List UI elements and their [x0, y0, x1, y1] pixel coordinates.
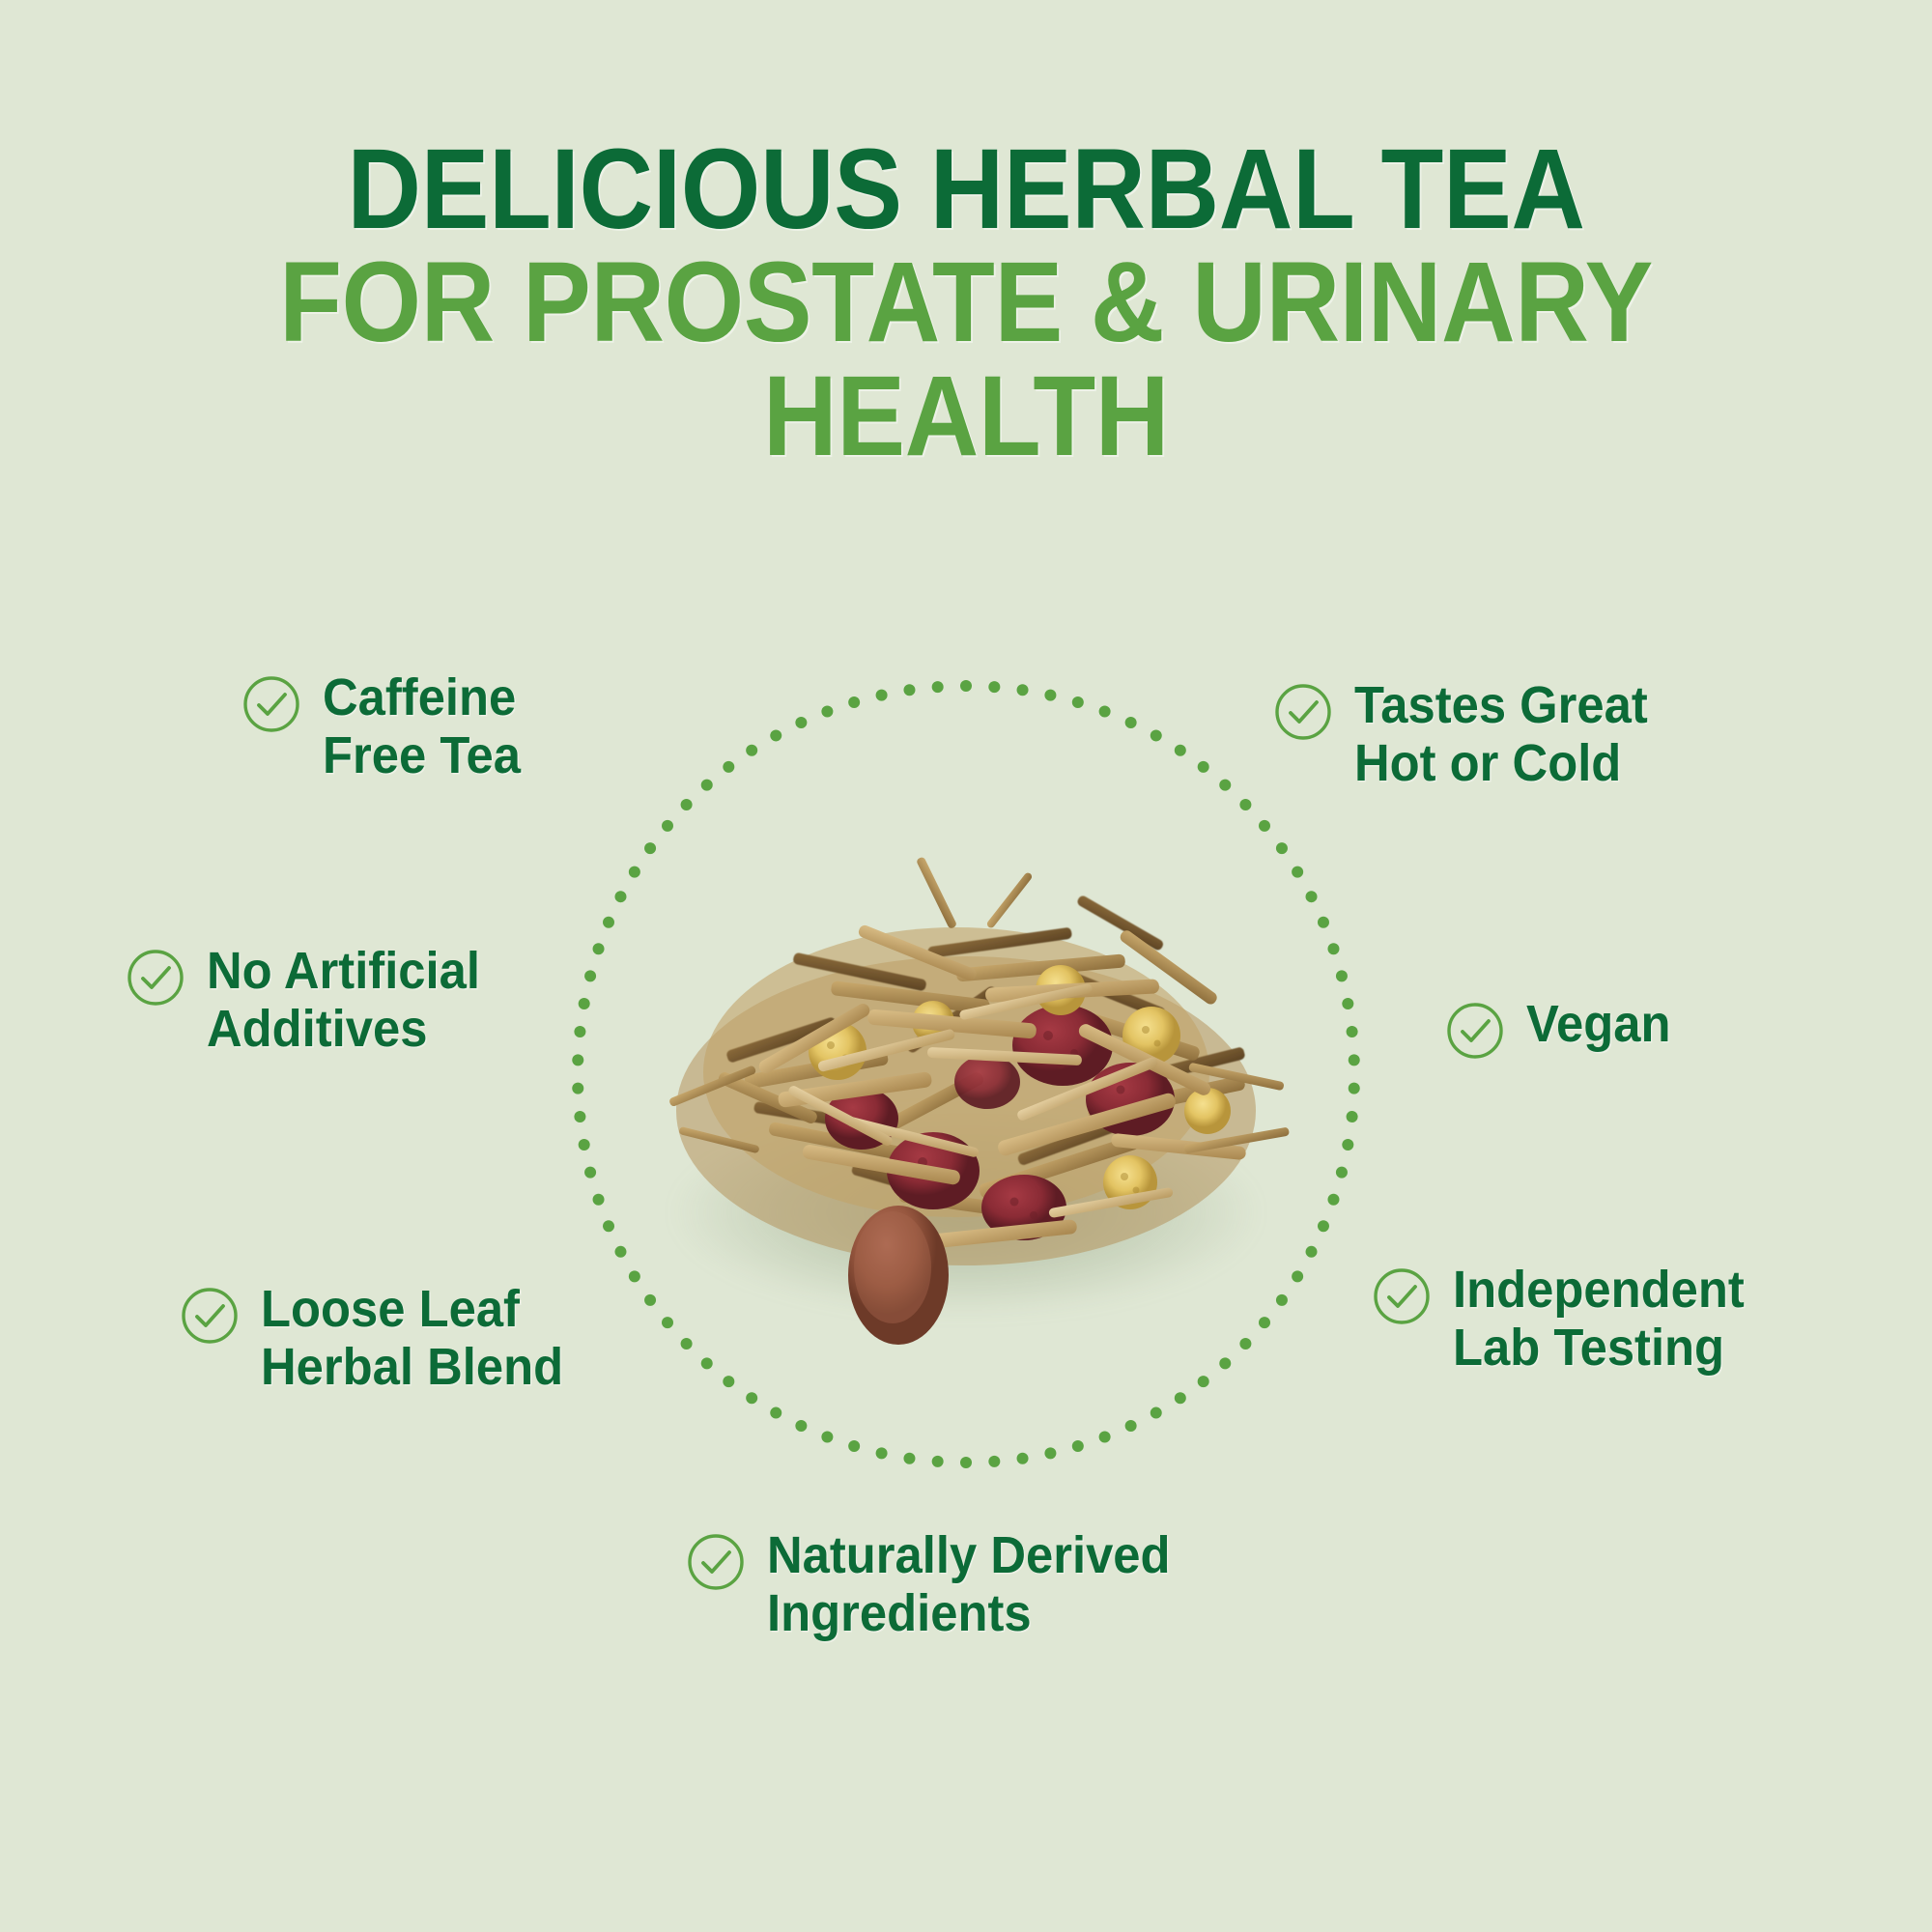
feature-label: Vegan [1526, 995, 1671, 1053]
infographic-canvas: DELICIOUS HERBAL TEA FOR PROSTATE & URIN… [0, 0, 1932, 1932]
check-circle-icon [1273, 682, 1333, 742]
check-circle-icon [126, 948, 185, 1008]
check-circle-icon [241, 674, 301, 734]
check-circle-icon [1372, 1266, 1432, 1326]
product-image [609, 792, 1323, 1372]
headline-line-3: HEALTH [97, 362, 1835, 471]
headline-line-2: FOR PROSTATE & URINARY [97, 248, 1835, 357]
feature-loose-leaf-herbal-blend: Loose Leaf Herbal Blend [180, 1280, 634, 1397]
feature-caffeine-free: Caffeine Free Tea [241, 668, 647, 785]
headline-line-1: DELICIOUS HERBAL TEA [97, 135, 1835, 244]
feature-tastes-great: Tastes Great Hot or Cold [1273, 676, 1718, 793]
feature-naturally-derived-ingredients: Naturally Derived Ingredients [686, 1526, 1285, 1643]
check-circle-icon [1445, 1001, 1505, 1061]
feature-vegan: Vegan [1445, 995, 1832, 1061]
feature-label: Loose Leaf Herbal Blend [261, 1280, 563, 1397]
feature-independent-lab-testing: Independent Lab Testing [1372, 1261, 1835, 1378]
feature-label: Tastes Great Hot or Cold [1354, 676, 1648, 793]
tea-blend-pile [609, 792, 1323, 1372]
check-circle-icon [686, 1532, 746, 1592]
feature-label: Caffeine Free Tea [323, 668, 521, 785]
page-title: DELICIOUS HERBAL TEA FOR PROSTATE & URIN… [0, 135, 1932, 471]
feature-label: No Artificial Additives [207, 942, 480, 1059]
feature-label: Naturally Derived Ingredients [767, 1526, 1171, 1643]
feature-no-artificial-additives: No Artificial Additives [126, 942, 580, 1059]
check-circle-icon [180, 1286, 240, 1346]
feature-label: Independent Lab Testing [1453, 1261, 1745, 1378]
